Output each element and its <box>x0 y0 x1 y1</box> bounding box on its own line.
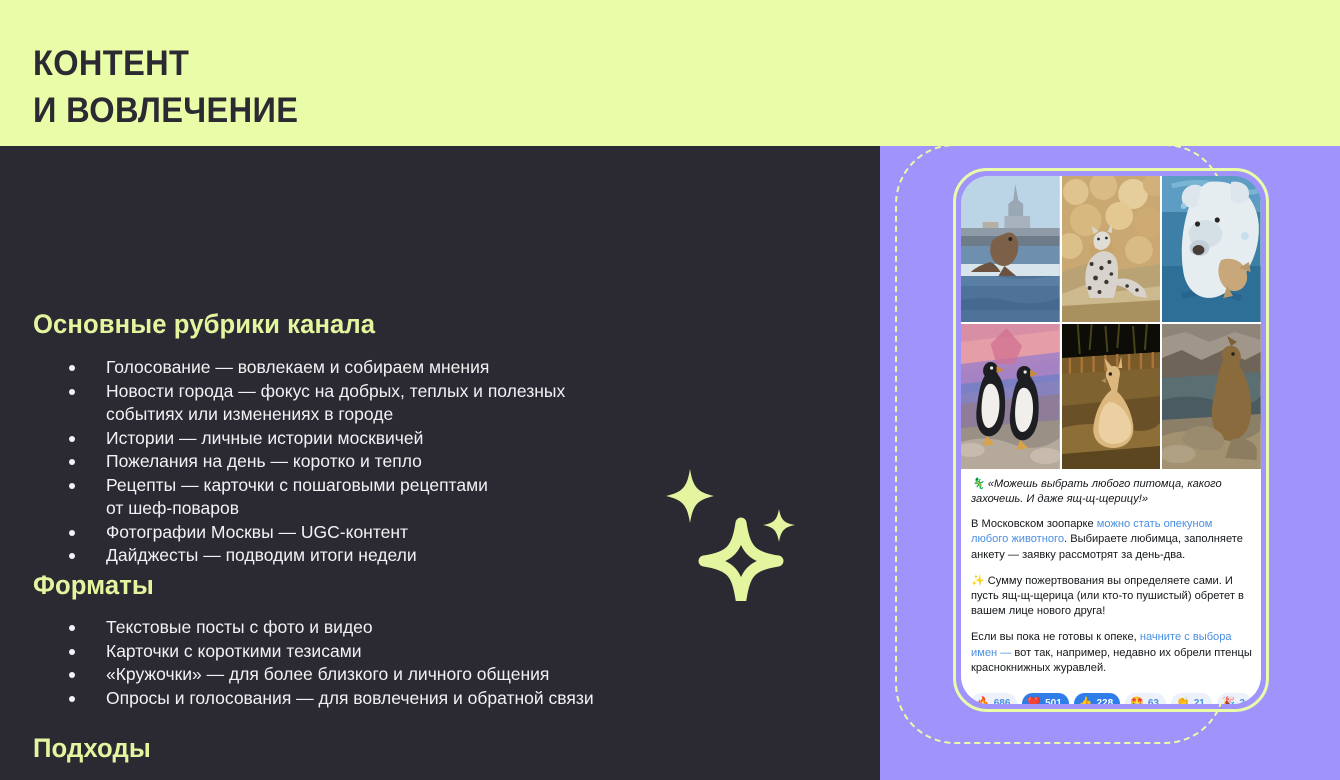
post-quote-text: «Можешь выбрать любого питомца, какого з… <box>971 478 1222 505</box>
post-paragraph-2: ✨ Сумму пожертвования вы определяете сам… <box>971 574 1252 620</box>
formats-list: Текстовые посты с фото и видео Карточки … <box>33 616 833 710</box>
sparkles-emoji-icon: ✨ <box>971 575 985 587</box>
reaction-count: 21 <box>1194 698 1205 704</box>
reaction-count: 501 <box>1045 698 1062 704</box>
reaction-count: 228 <box>1096 698 1113 704</box>
section-approaches-heading: Подходы <box>33 733 812 764</box>
list-item: Голосование — вовлекаем и собираем мнени… <box>33 356 833 380</box>
list-item: «Кружочки» — для более близкого и личног… <box>33 663 833 687</box>
reaction-clap[interactable]: 👏 21 <box>1171 693 1212 704</box>
party-popper-icon: 🎉 <box>1222 698 1236 704</box>
sparkles-decoration <box>648 461 828 601</box>
list-item: Новости города — фокус на добрых, теплых… <box>33 380 833 427</box>
reaction-bar[interactable]: 🔥 686 ❤️ 501 👍 228 🤩 63 <box>961 691 1261 704</box>
photo-sea-lion-rock[interactable] <box>1162 324 1261 469</box>
photo-polar-bear[interactable] <box>1162 176 1261 322</box>
photo-snow-leopard[interactable] <box>1062 176 1161 322</box>
star-struck-icon: 🤩 <box>1130 698 1144 704</box>
post-paragraph-1: В Московском зоопарке можно стать опекун… <box>971 517 1252 563</box>
reaction-fire[interactable]: 🔥 686 <box>971 693 1017 704</box>
list-item: Текстовые посты с фото и видео <box>33 616 833 640</box>
phone-showcase-panel: 🦎 «Можешь выбрать любого питомца, какого… <box>880 146 1340 780</box>
slide-header: КОНТЕНТ И ВОВЛЕЧЕНИЕ <box>0 0 1340 146</box>
p1-pre: В Московском зоопарке <box>971 518 1097 530</box>
p3-post: вот так, например, недавно их обрели пте… <box>971 647 1252 674</box>
post-quote: 🦎 «Можешь выбрать любого питомца, какого… <box>971 477 1252 506</box>
reaction-count: 3 <box>1240 698 1246 704</box>
photo-alpaca[interactable] <box>1062 324 1161 469</box>
list-item: Истории — личные истории москвичей <box>33 427 833 451</box>
list-item: Опросы и голосования — для вовлечения и … <box>33 687 833 711</box>
clap-icon: 👏 <box>1176 698 1190 704</box>
p3-pre: Если вы пока не готовы к опеке, <box>971 631 1140 643</box>
reaction-count: 686 <box>994 698 1011 704</box>
post-paragraph-3: Если вы пока не готовы к опеке, начните … <box>971 630 1252 676</box>
list-item: Карточки с короткими тезисами <box>33 640 833 664</box>
photo-penguins[interactable] <box>961 324 1060 469</box>
reaction-thumbs-up[interactable]: 👍 228 <box>1074 693 1120 704</box>
reaction-heart[interactable]: ❤️ 501 <box>1022 693 1068 704</box>
phone-screen: 🦎 «Можешь выбрать любого питомца, какого… <box>961 176 1261 704</box>
photo-sea-lion-msu[interactable] <box>961 176 1060 322</box>
phone-mockup: 🦎 «Можешь выбрать любого питомца, какого… <box>953 168 1269 712</box>
post-text: 🦎 «Можешь выбрать любого питомца, какого… <box>961 469 1261 691</box>
sparkle-icon <box>648 461 828 601</box>
section-rubrics-heading: Основные рубрики канала <box>33 309 793 340</box>
slide-root: КОНТЕНТ И ВОВЛЕЧЕНИЕ Основные рубрики ка… <box>0 0 1340 780</box>
fire-icon: 🔥 <box>976 698 990 704</box>
reaction-star-struck[interactable]: 🤩 63 <box>1125 693 1166 704</box>
content-panel: Основные рубрики канала Голосование — во… <box>0 146 880 780</box>
reaction-count: 63 <box>1148 698 1159 704</box>
lizard-icon: 🦎 <box>971 478 985 490</box>
thumbs-up-icon: 👍 <box>1079 698 1093 704</box>
page-title: КОНТЕНТ И ВОВЛЕЧЕНИЕ <box>33 40 298 134</box>
p2-text: Сумму пожертвования вы определяете сами.… <box>971 575 1244 617</box>
heart-icon: ❤️ <box>1027 698 1041 704</box>
reaction-party[interactable]: 🎉 3 <box>1217 693 1252 704</box>
section-approaches: Подходы В основе — data-driven: Анализир… <box>33 733 853 780</box>
post-photo-grid[interactable] <box>961 176 1261 469</box>
